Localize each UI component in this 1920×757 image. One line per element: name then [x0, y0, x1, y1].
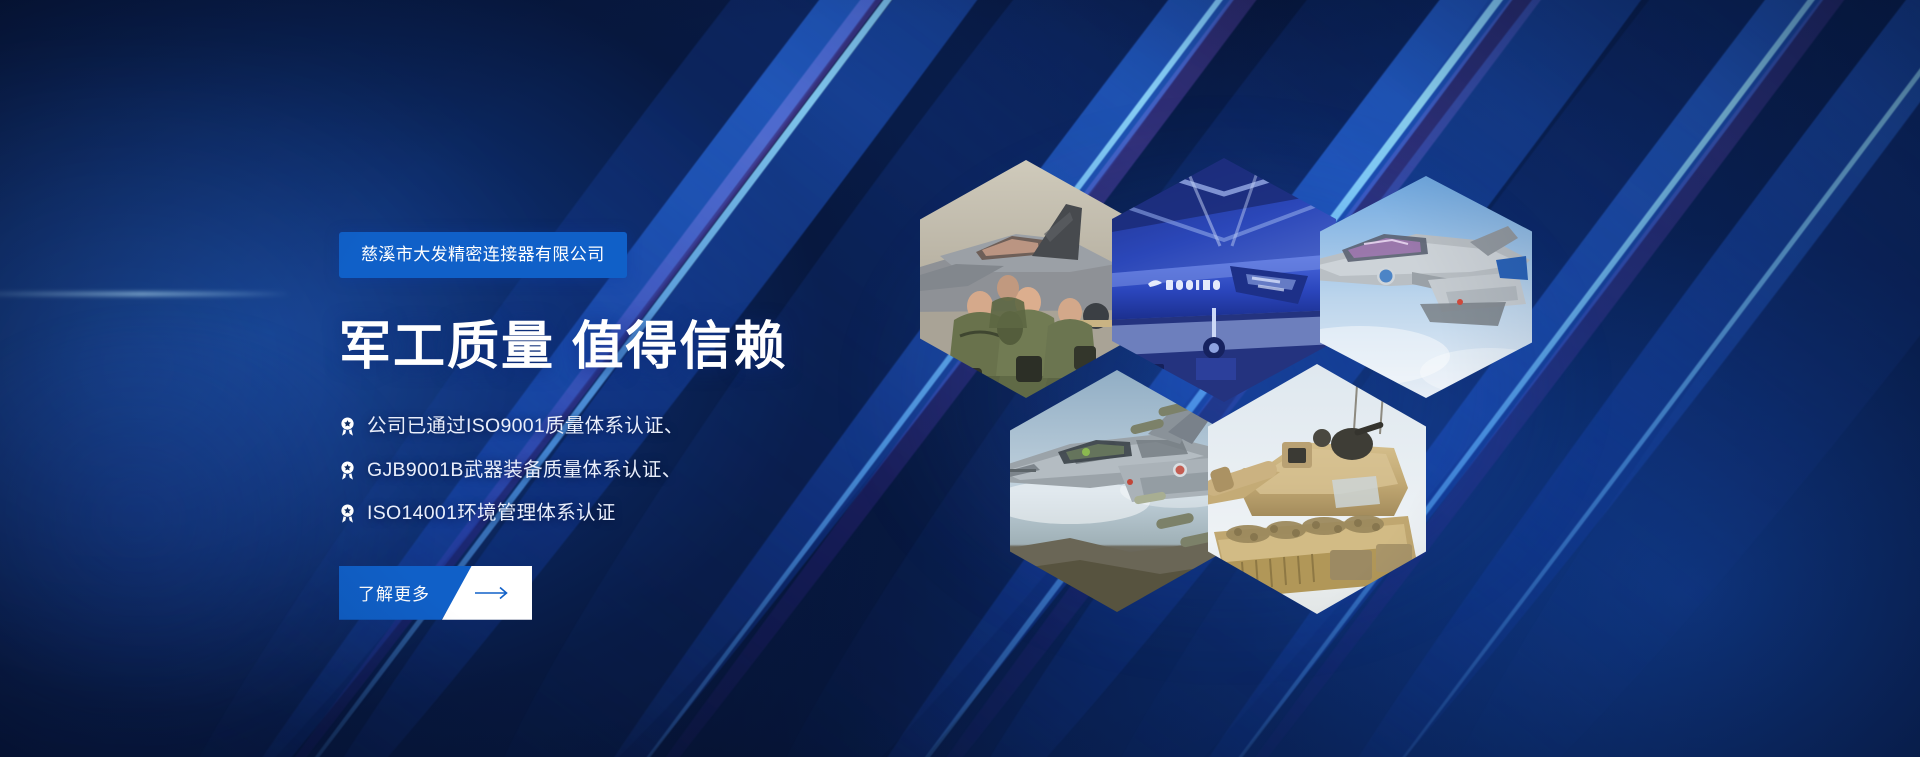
learn-more-button[interactable]: 了解更多 — [339, 566, 532, 620]
list-item-label: ISO14001环境管理体系认证 — [367, 504, 616, 524]
medal-icon — [339, 461, 356, 480]
list-item: 公司已通过ISO9001质量体系认证、 — [339, 417, 1099, 437]
company-name-badge: 慈溪市大发精密连接器有限公司 — [339, 232, 627, 278]
list-item-label: 公司已通过ISO9001质量体系认证、 — [367, 417, 684, 437]
arrow-right-icon — [475, 566, 513, 620]
certification-list: 公司已通过ISO9001质量体系认证、 GJB9001B武器装备质量体系认证、 — [339, 417, 1099, 524]
list-item: ISO14001环境管理体系认证 — [339, 504, 1099, 524]
list-item: GJB9001B武器装备质量体系认证、 — [339, 461, 1099, 481]
hero-content: 慈溪市大发精密连接器有限公司 军工质量 值得信赖 公司已通过ISO9001质量体… — [339, 232, 1099, 620]
list-item-label: GJB9001B武器装备质量体系认证、 — [367, 461, 682, 481]
hero-banner: 慈溪市大发精密连接器有限公司 军工质量 值得信赖 公司已通过ISO9001质量体… — [0, 0, 1920, 757]
hex-gripen-flight[interactable] — [1320, 176, 1532, 398]
medal-icon — [339, 417, 356, 436]
hex-battle-tank[interactable] — [1208, 364, 1426, 614]
hex-boeing-hangar[interactable] — [1112, 158, 1336, 402]
learn-more-label: 了解更多 — [358, 566, 430, 620]
medal-icon — [339, 504, 356, 523]
left-accent-line — [0, 292, 290, 296]
page-title: 军工质量 值得信赖 — [339, 318, 1099, 376]
